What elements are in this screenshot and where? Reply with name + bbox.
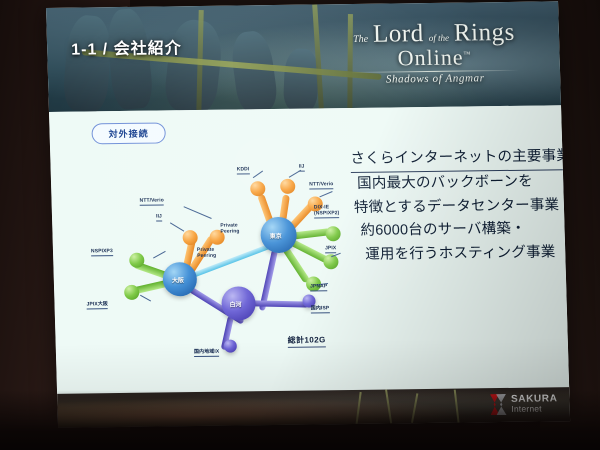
link-shirakawa-domestic-isp — [251, 300, 309, 307]
peer-node-nspixp3 — [129, 253, 144, 268]
projection-screen-wrapper: 1-1 / 会社紹介 The Lord of the Rings Online™… — [46, 1, 570, 433]
peer-label-kddi: KDDI — [237, 167, 250, 174]
peer-label-jpnap: JPNAP — [310, 284, 327, 291]
projected-slide-photo: 1-1 / 会社紹介 The Lord of the Rings Online™… — [0, 0, 600, 450]
logo-word-of-the: of the — [429, 34, 450, 43]
leader-line — [319, 191, 332, 197]
peer-label-iij-tokyo: IIJ — [299, 165, 305, 172]
slide-body: 対外接続 — [49, 105, 569, 394]
peer-label-private-peering-osaka: Private Peering — [197, 248, 216, 260]
copy-line-2: 特徴とするデータセンター事業 — [352, 194, 559, 220]
peer-label-ntt-verio-tokyo: NTT/Verio — [309, 182, 333, 190]
logo-trademark: ™ — [463, 50, 471, 58]
peer-label-regional-ix: 国内地域IX — [194, 350, 220, 358]
leader-line — [253, 171, 263, 178]
peer-node-iij-tokyo — [280, 179, 295, 194]
page-title: 1-1 / 会社紹介 — [71, 34, 182, 59]
copy-heading: さくらインターネットの主要事業 — [350, 145, 570, 173]
copy-line-3: 約6000台のサーバ構築・ — [352, 218, 559, 244]
peer-node-dixie — [325, 226, 340, 241]
peer-node-kddi — [250, 181, 265, 196]
peer-node-jpix-osaka — [124, 285, 139, 300]
logo-subtitle: Shadows of Angmar — [320, 71, 550, 86]
peer-node-iij-osaka — [182, 230, 197, 245]
peer-label-jpix: JPIX — [325, 246, 336, 253]
slide-copy-block: さくらインターネットの主要事業 国内最大のバックボーンを 特徴とするデータセンタ… — [350, 145, 559, 267]
lotro-game-logo: The Lord of the Rings Online™ Shadows of… — [319, 19, 551, 106]
leader-line — [153, 251, 166, 258]
logo-word-the: The — [353, 35, 368, 45]
total-capacity-label: 総計102G — [288, 334, 326, 347]
leader-line — [184, 206, 212, 219]
projection-screen: 1-1 / 会社紹介 The Lord of the Rings Online™… — [46, 1, 570, 428]
slide-header-banner: 1-1 / 会社紹介 The Lord of the Rings Online™… — [46, 1, 561, 112]
leader-line — [140, 295, 151, 302]
logo-word-lord: Lord — [373, 21, 424, 47]
peer-label-ntt-verio-osaka: NTT/Verio — [140, 198, 164, 206]
core-node-osaka-label: 大阪 — [172, 275, 184, 284]
peer-label-nspixp3: NSPIXP3 — [91, 249, 113, 257]
peer-label-iij-osaka: IIJ — [156, 214, 162, 221]
logo-word-rings: Rings — [454, 20, 516, 46]
peer-label-domestic-isp: 国内ISP — [311, 306, 330, 313]
network-topology-diagram: 大阪 東京 白河 NSPIXP3 JPIX大阪 IIJ NTT/Verio Pr… — [76, 142, 352, 360]
room-floor-shadow — [0, 390, 600, 450]
copy-line-4: 運用を行うホスティング事業 — [353, 241, 560, 267]
core-node-shirakawa-label: 白河 — [229, 299, 241, 308]
section-tag-badge: 対外接続 — [91, 122, 166, 144]
leader-line — [170, 222, 184, 231]
peer-label-jpix-osaka: JPIX大阪 — [86, 302, 108, 310]
core-node-tokyo-label: 東京 — [270, 231, 282, 240]
peer-node-regional-ix — [224, 339, 237, 352]
orc-silhouette-icon — [283, 48, 320, 112]
peer-label-private-peering-tokyo: Private Peering — [220, 223, 239, 235]
copy-line-1: 国内最大のバックボーンを — [351, 171, 558, 197]
logo-word-online: Online — [397, 45, 464, 71]
peer-label-dixie: DIX-IE (NSPIXP2) — [314, 204, 340, 218]
